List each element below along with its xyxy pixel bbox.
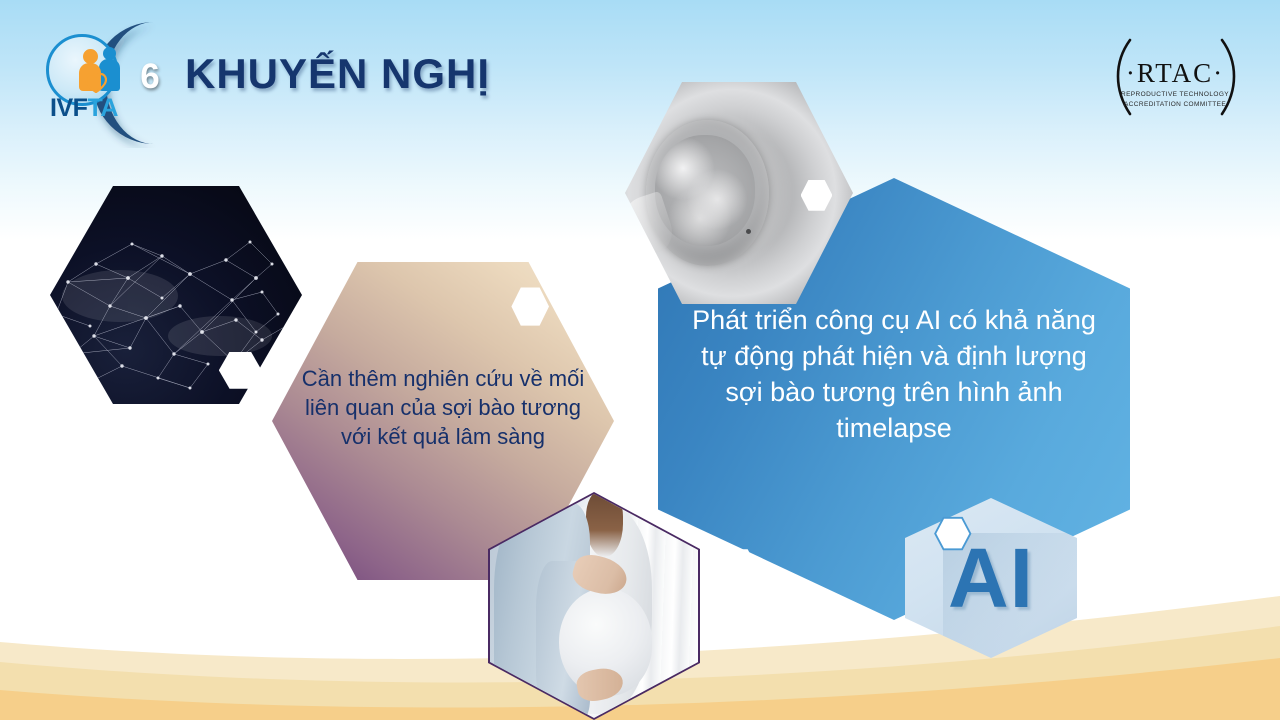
embryo-dot-marker <box>746 229 751 234</box>
ai-hexagon[interactable]: AI <box>905 498 1077 658</box>
logo-wordmark: IVFTA <box>32 96 136 121</box>
slide-number: 6 <box>130 52 170 102</box>
heart-icon <box>85 73 107 93</box>
ai-label: AI <box>905 498 1077 658</box>
rtac-subtitle: REPRODUCTIVE TECHNOLOGY ACCREDITATION CO… <box>1100 90 1250 110</box>
logo-child-head-icon <box>83 49 98 64</box>
pregnancy-hexagon[interactable] <box>488 492 700 720</box>
neural-network-hexagon[interactable] <box>50 186 302 404</box>
logo-text-ivf: IVF <box>50 94 87 122</box>
logo-text-ta: TA <box>87 94 117 122</box>
photo-woman-hair <box>586 494 623 557</box>
rtac-logo: ·RTAC· REPRODUCTIVE TECHNOLOGY ACCREDITA… <box>1100 24 1250 128</box>
pregnant-woman-photo <box>490 494 698 718</box>
rtac-subtitle-line1: REPRODUCTIVE TECHNOLOGY <box>1121 91 1229 98</box>
recommendation-text: Phát triển công cụ AI có khả năng tự độn… <box>686 302 1101 447</box>
network-mesh-icon <box>50 186 302 404</box>
pregnancy-hexagon-inner <box>490 494 698 718</box>
hexagon-accent-icon <box>933 516 973 551</box>
embryo-hexagon[interactable] <box>625 82 853 304</box>
slide-canvas: IVFTA 6 KHUYẾN NGHỊ ·RTAC· REPRODUCTIVE … <box>0 0 1280 720</box>
rtac-subtitle-line2: ACCREDITATION COMMITTEE <box>1124 101 1226 108</box>
research-text: Cần thêm nghiên cứu về mối liên quan của… <box>296 364 590 452</box>
page-title: KHUYẾN NGHỊ <box>185 50 490 98</box>
pregnancy-hexagon-shape <box>490 494 698 718</box>
hexagon-accent-icon <box>719 549 757 584</box>
neural-network-hexagon-shape <box>50 186 302 404</box>
rtac-acronym: ·RTAC· <box>1100 58 1250 89</box>
ivfta-logo: IVFTA <box>32 34 136 138</box>
